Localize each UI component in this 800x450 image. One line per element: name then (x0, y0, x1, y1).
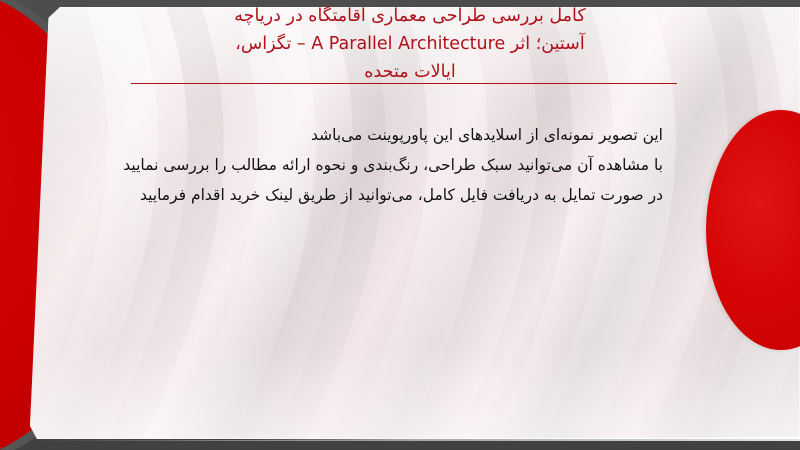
slide-body: این تصویر نمونه‌ای از اسلایدهای این پاور… (103, 120, 663, 210)
slide-title-line-3: ایالات متحده (60, 58, 760, 86)
slide-title-line-1: کامل بررسی طراحی معماری اقامتگاه در دریا… (60, 2, 760, 30)
slide-body-line-3: در صورت تمایل به دریافت فایل کامل، می‌تو… (103, 180, 663, 210)
slide-body-line-1: این تصویر نمونه‌ای از اسلایدهای این پاور… (103, 120, 663, 150)
slide-title-line-2: آستین؛ اثر A Parallel Architecture – تگز… (60, 30, 760, 58)
slide-canvas: کامل بررسی طراحی معماری اقامتگاه در دریا… (0, 0, 800, 450)
slide-body-line-2: با مشاهده آن می‌توانید سبک طراحی، رنگ‌بن… (103, 150, 663, 180)
title-underline (131, 83, 677, 84)
slide-title: کامل بررسی طراحی معماری اقامتگاه در دریا… (60, 2, 760, 86)
